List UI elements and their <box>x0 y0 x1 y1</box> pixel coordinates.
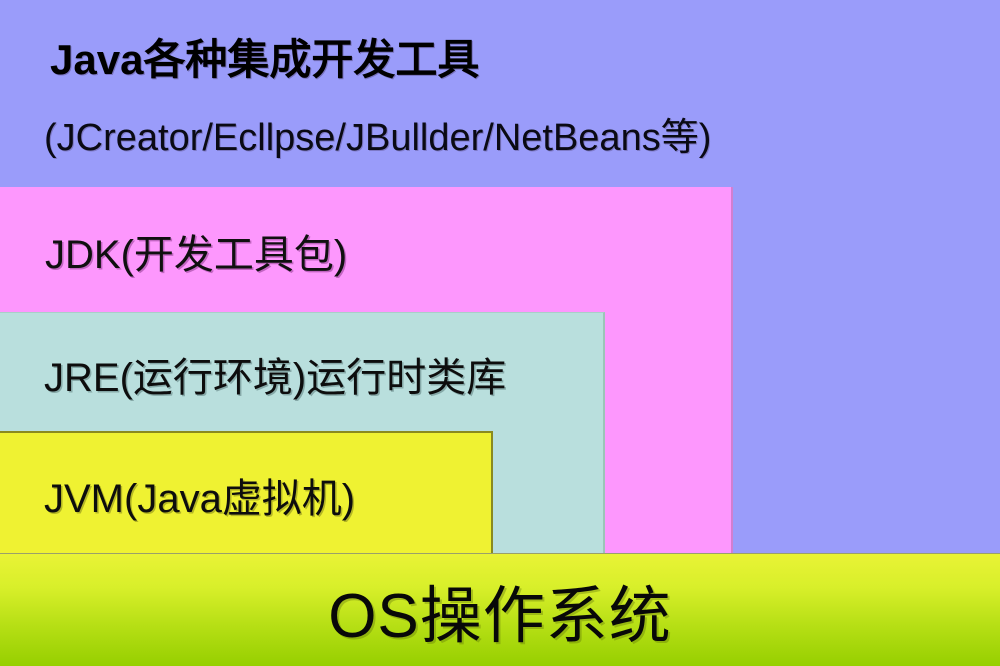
ide-layer-title: Java各种集成开发工具 <box>50 26 479 87</box>
jre-layer-label: JRE(运行环境)运行时类库 <box>44 345 506 403</box>
jvm-layer-label: JVM(Java虚拟机) <box>44 466 355 524</box>
ide-layer-subtitle: (JCreator/Ecllpse/JBullder/NetBeans等) <box>44 106 711 161</box>
java-platform-layers-diagram: Java各种集成开发工具 (JCreator/Ecllpse/JBullder/… <box>0 0 1000 666</box>
layer-os <box>0 553 1000 666</box>
jdk-layer-label: JDK(开发工具包) <box>45 222 347 280</box>
